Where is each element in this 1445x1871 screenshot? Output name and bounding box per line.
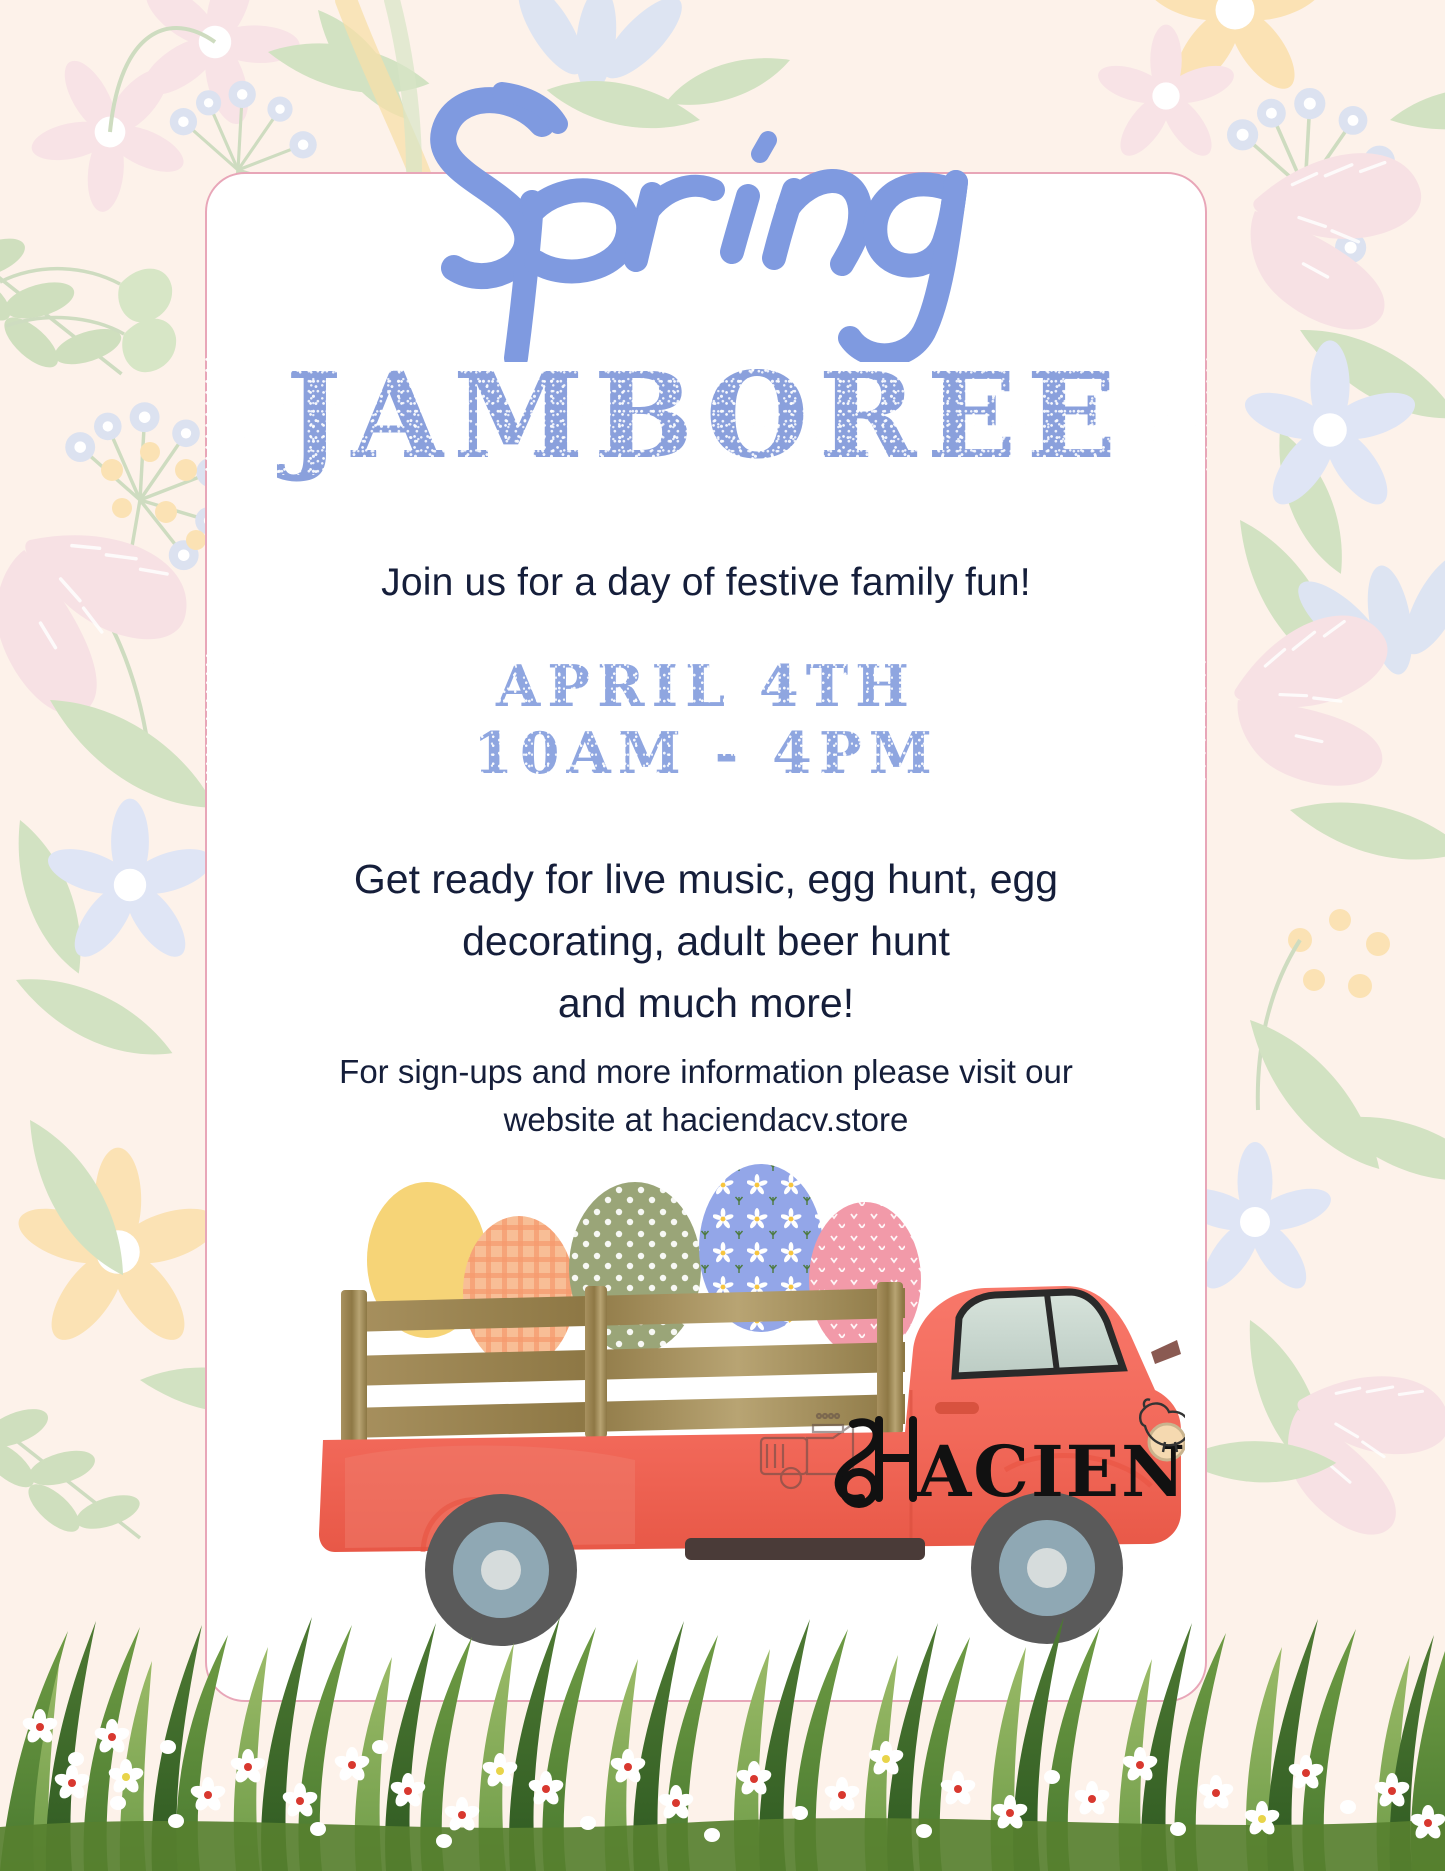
description-line-2: decorating, adult beer hunt xyxy=(205,910,1207,972)
tagline: Join us for a day of festive family fun! xyxy=(205,561,1207,605)
date-time-block: APRIL 4TH 10AM - 4PM xyxy=(205,653,1207,788)
event-time: 10AM - 4PM xyxy=(205,720,1207,787)
website-link[interactable]: website at haciendacv.store xyxy=(205,1096,1207,1144)
signup-information: For sign-ups and more information please… xyxy=(205,1048,1207,1144)
signup-line-1: For sign-ups and more information please… xyxy=(205,1048,1207,1096)
title-display-jamboree: JAMBOREE xyxy=(205,357,1207,475)
grass-flowers xyxy=(21,1709,1445,1848)
title-script-spring xyxy=(205,62,1207,367)
description-line-1: Get ready for live music, egg hunt, egg xyxy=(205,848,1207,910)
jamboree-text: JAMBOREE xyxy=(286,346,1127,485)
spring-jamboree-flyer: JAMBOREE Join us for a day of festive fa… xyxy=(0,0,1445,1871)
event-description: Get ready for live music, egg hunt, egg … xyxy=(205,848,1207,1035)
description-line-3: and much more! xyxy=(205,972,1207,1034)
flyer-content: JAMBOREE Join us for a day of festive fa… xyxy=(205,172,1207,1144)
event-date: APRIL 4TH xyxy=(205,653,1207,720)
